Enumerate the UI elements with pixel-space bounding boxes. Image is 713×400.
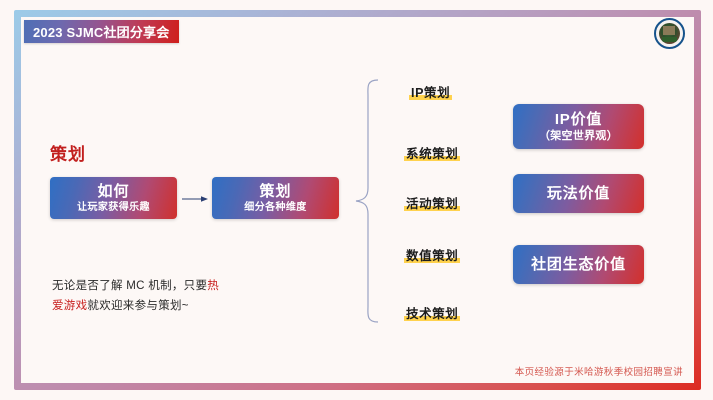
closing-note-highlight1: 热 [207,280,219,292]
flow-box-planning-subtitle: 细分各种维度 [244,201,306,214]
flow-box-how: 如何 让玩家获得乐趣 [50,177,177,219]
slide-title-text: 2023 SJMC社团分享会 [33,22,169,41]
section-heading: 策划 [50,140,86,165]
flow-box-how-title: 如何 [97,183,129,200]
value-box-ip-subtitle: （架空世界观） [539,129,618,143]
branch-item-activity: 活动策划 [404,193,460,213]
value-box-ip-title: IP价值 [555,111,602,129]
branch-brace-icon [352,78,378,324]
closing-note-part1: 无论是否了解 MC 机制，只要 [52,280,207,292]
value-box-ip: IP价值 （架空世界观） [513,104,644,149]
flow-box-planning-title: 策划 [259,183,291,200]
footer-note: 本页经验源于米哈游秋季校园招聘宣讲 [515,364,683,378]
flow-box-planning: 策划 细分各种维度 [212,177,339,219]
closing-note-part2: 就欢迎来参与策划~ [87,300,188,312]
value-box-community-title: 社团生态价值 [531,256,626,274]
closing-note-highlight2: 爱游戏 [52,300,87,312]
branch-item-system: 系统策划 [404,143,460,163]
closing-note: 无论是否了解 MC 机制，只要热 爱游戏就欢迎来参与策划~ [52,276,342,316]
branch-item-numeric: 数值策划 [404,245,460,265]
flow-arrow-right-icon [182,196,208,202]
branch-item-ip: IP策划 [409,82,452,102]
value-box-community: 社团生态价值 [513,245,644,284]
flow-box-how-subtitle: 让玩家获得乐趣 [77,201,150,214]
slide-title-banner: 2023 SJMC社团分享会 [24,20,179,43]
value-box-gameplay-title: 玩法价值 [547,185,610,203]
value-box-gameplay: 玩法价值 [513,174,644,213]
slide-canvas: 2023 SJMC社团分享会 策划 如何 让玩家获得乐趣 策划 细分各种维度 I… [0,0,713,400]
emblem-inner-icon [659,23,680,44]
branch-item-technical: 技术策划 [404,303,460,323]
sjmc-club-emblem-icon [654,18,685,49]
